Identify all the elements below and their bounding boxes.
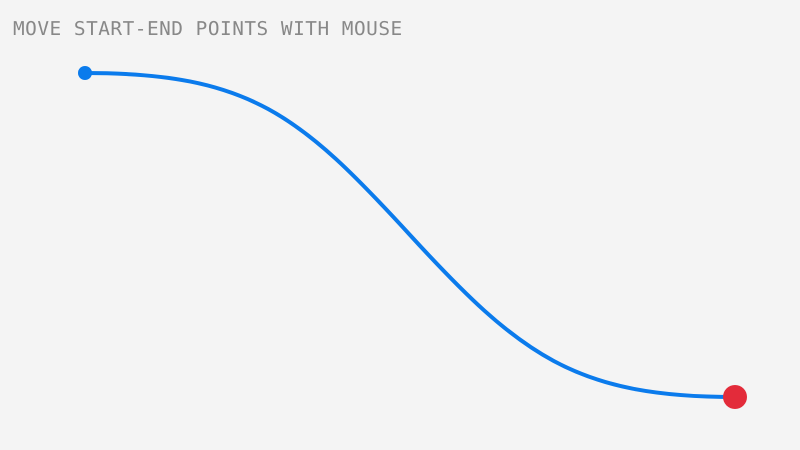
bezier-canvas[interactable] <box>0 0 800 450</box>
bezier-curve <box>85 73 735 397</box>
canvas-stage: MOVE START-END POINTS WITH MOUSE <box>0 0 800 450</box>
end-point-handle[interactable] <box>723 385 747 409</box>
page-title: MOVE START-END POINTS WITH MOUSE <box>13 18 403 40</box>
start-point-handle[interactable] <box>78 66 92 80</box>
